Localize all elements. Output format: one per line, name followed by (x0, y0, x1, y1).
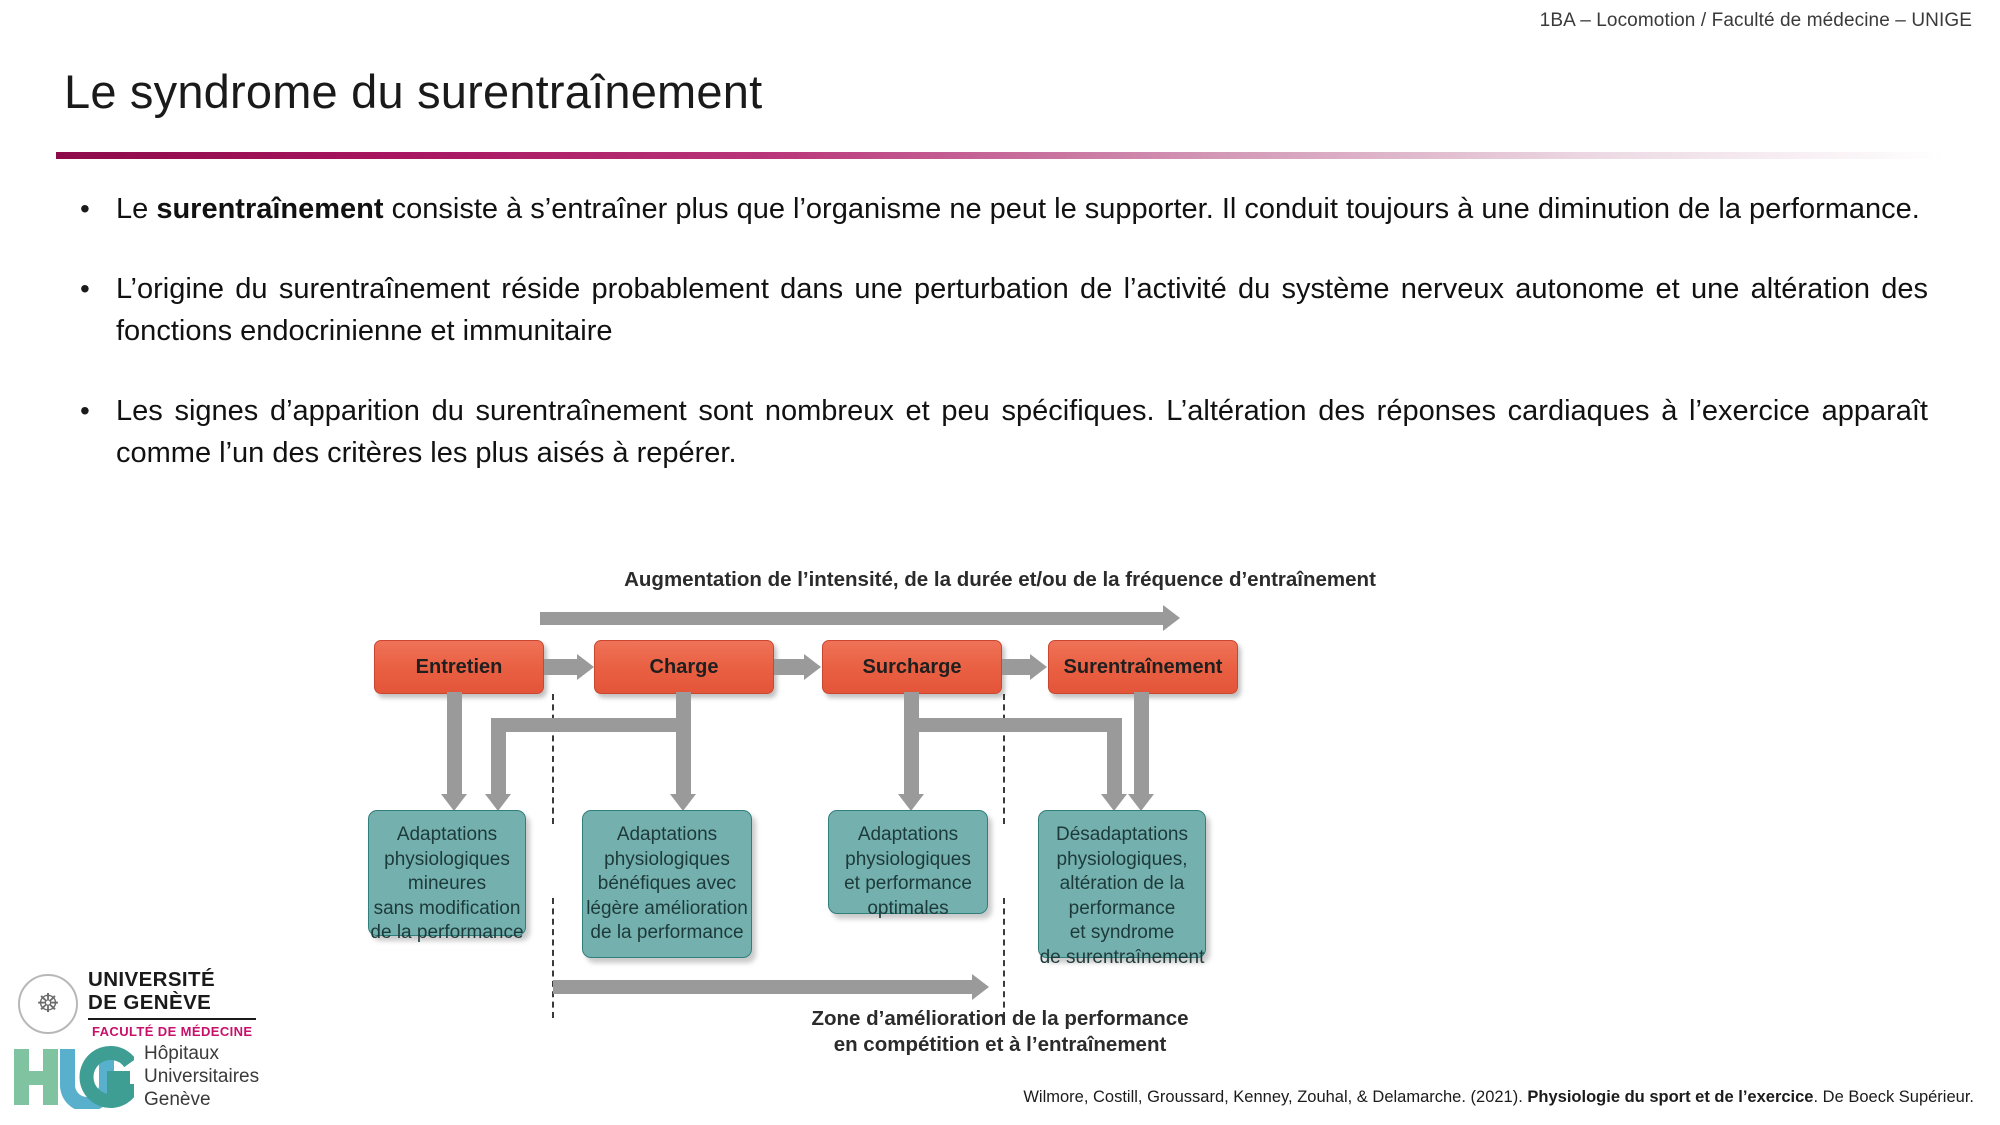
outcome-box-surcharge[interactable]: Adaptations physiologiques et performanc… (828, 810, 988, 914)
bullet-text: Les signes d’apparition du surentraîneme… (116, 390, 1928, 474)
diagram-top-caption: Augmentation de l’intensité, de la durée… (440, 568, 1560, 592)
outcome-box-entretien[interactable]: Adaptations physiologiques mineures sans… (368, 810, 526, 936)
hug-wordmark: Hôpitaux Universitaires Genève (144, 1042, 259, 1111)
outcome-text: Adaptations physiologiques et performanc… (844, 823, 972, 921)
stage-box-surcharge[interactable]: Surcharge (822, 640, 1002, 694)
zone-divider-right-lower (1003, 898, 1005, 1018)
stage-box-surentrainement[interactable]: Surentraînement (1048, 640, 1238, 694)
zone-divider-right (1003, 694, 1005, 824)
list-item: • Le surentraînement consiste à s’entraî… (72, 188, 1928, 230)
unige-faculty: FACULTÉ DE MÉDECINE (92, 1024, 256, 1039)
bullet-lead: Le (116, 193, 156, 225)
outcome-text: Désadaptations physiologiques, altératio… (1040, 823, 1205, 970)
hug-line1: Hôpitaux (144, 1042, 259, 1065)
bullet-text: L’origine du surentraînement réside prob… (116, 268, 1928, 352)
outcome-box-charge[interactable]: Adaptations physiologiques bénéfiques av… (582, 810, 752, 958)
diagram-bottom-caption-line2: en compétition et à l’entraînement (440, 1032, 1560, 1058)
stage-box-charge[interactable]: Charge (594, 640, 774, 694)
diagram-bottom-caption: Zone d’amélioration de la performance en… (440, 1006, 1560, 1058)
bullet-text: Le surentraînement consiste à s’entraîne… (116, 188, 1928, 230)
header-meta: 1BA – Locomotion / Faculté de médecine –… (1540, 10, 1972, 32)
bullet-list: • Le surentraînement consiste à s’entraî… (72, 188, 1928, 512)
bullet-marker: • (72, 268, 116, 352)
list-item: • Les signes d’apparition du surentraîne… (72, 390, 1928, 474)
citation-authors: Wilmore, Costill, Groussard, Kenney, Zou… (1023, 1088, 1527, 1106)
outcome-box-surentrainement[interactable]: Désadaptations physiologiques, altératio… (1038, 810, 1206, 958)
citation-title: Physiologie du sport et de l’exercice (1527, 1088, 1813, 1106)
source-citation: Wilmore, Costill, Groussard, Kenney, Zou… (1023, 1088, 1974, 1107)
hug-line3: Genève (144, 1088, 259, 1111)
stage-box-entretien[interactable]: Entretien (374, 640, 544, 694)
page-title: Le syndrome du surentraînement (64, 64, 762, 119)
hug-logo: Hôpitaux Universitaires Genève (12, 1042, 259, 1111)
unige-seal-icon: ☸ (18, 974, 78, 1034)
stage-row: Entretien Charge Surcharge Surentraîneme… (440, 640, 1560, 696)
unige-underline (88, 1018, 256, 1020)
unige-line1: UNIVERSITÉ (88, 968, 256, 991)
outcome-text: Adaptations physiologiques mineures sans… (370, 823, 523, 946)
bullet-marker: • (72, 188, 116, 230)
hug-mark-icon (12, 1045, 134, 1109)
citation-publisher: . De Boeck Supérieur. (1813, 1088, 1974, 1106)
bullet-emphasis: surentraînement (156, 193, 383, 225)
bullet-rest: L’origine du surentraînement réside prob… (116, 273, 1928, 347)
diagram-bottom-caption-line1: Zone d’amélioration de la performance (440, 1006, 1560, 1032)
bullet-rest: consiste à s’entraîner plus que l’organi… (384, 193, 1920, 225)
zone-divider-left-lower (552, 898, 554, 1018)
list-item: • L’origine du surentraînement réside pr… (72, 268, 1928, 352)
unige-logo: ☸ UNIVERSITÉ DE GENÈVE FACULTÉ DE MÉDECI… (18, 968, 268, 1039)
bullet-marker: • (72, 390, 116, 474)
zone-divider-left (552, 694, 554, 824)
hug-line2: Universitaires (144, 1065, 259, 1088)
outcome-text: Adaptations physiologiques bénéfiques av… (586, 823, 748, 946)
overtraining-diagram: Augmentation de l’intensité, de la durée… (440, 568, 1560, 1048)
bullet-rest: Les signes d’apparition du surentraîneme… (116, 395, 1928, 469)
title-divider (56, 152, 1944, 159)
unige-line2: DE GENÈVE (88, 991, 256, 1014)
